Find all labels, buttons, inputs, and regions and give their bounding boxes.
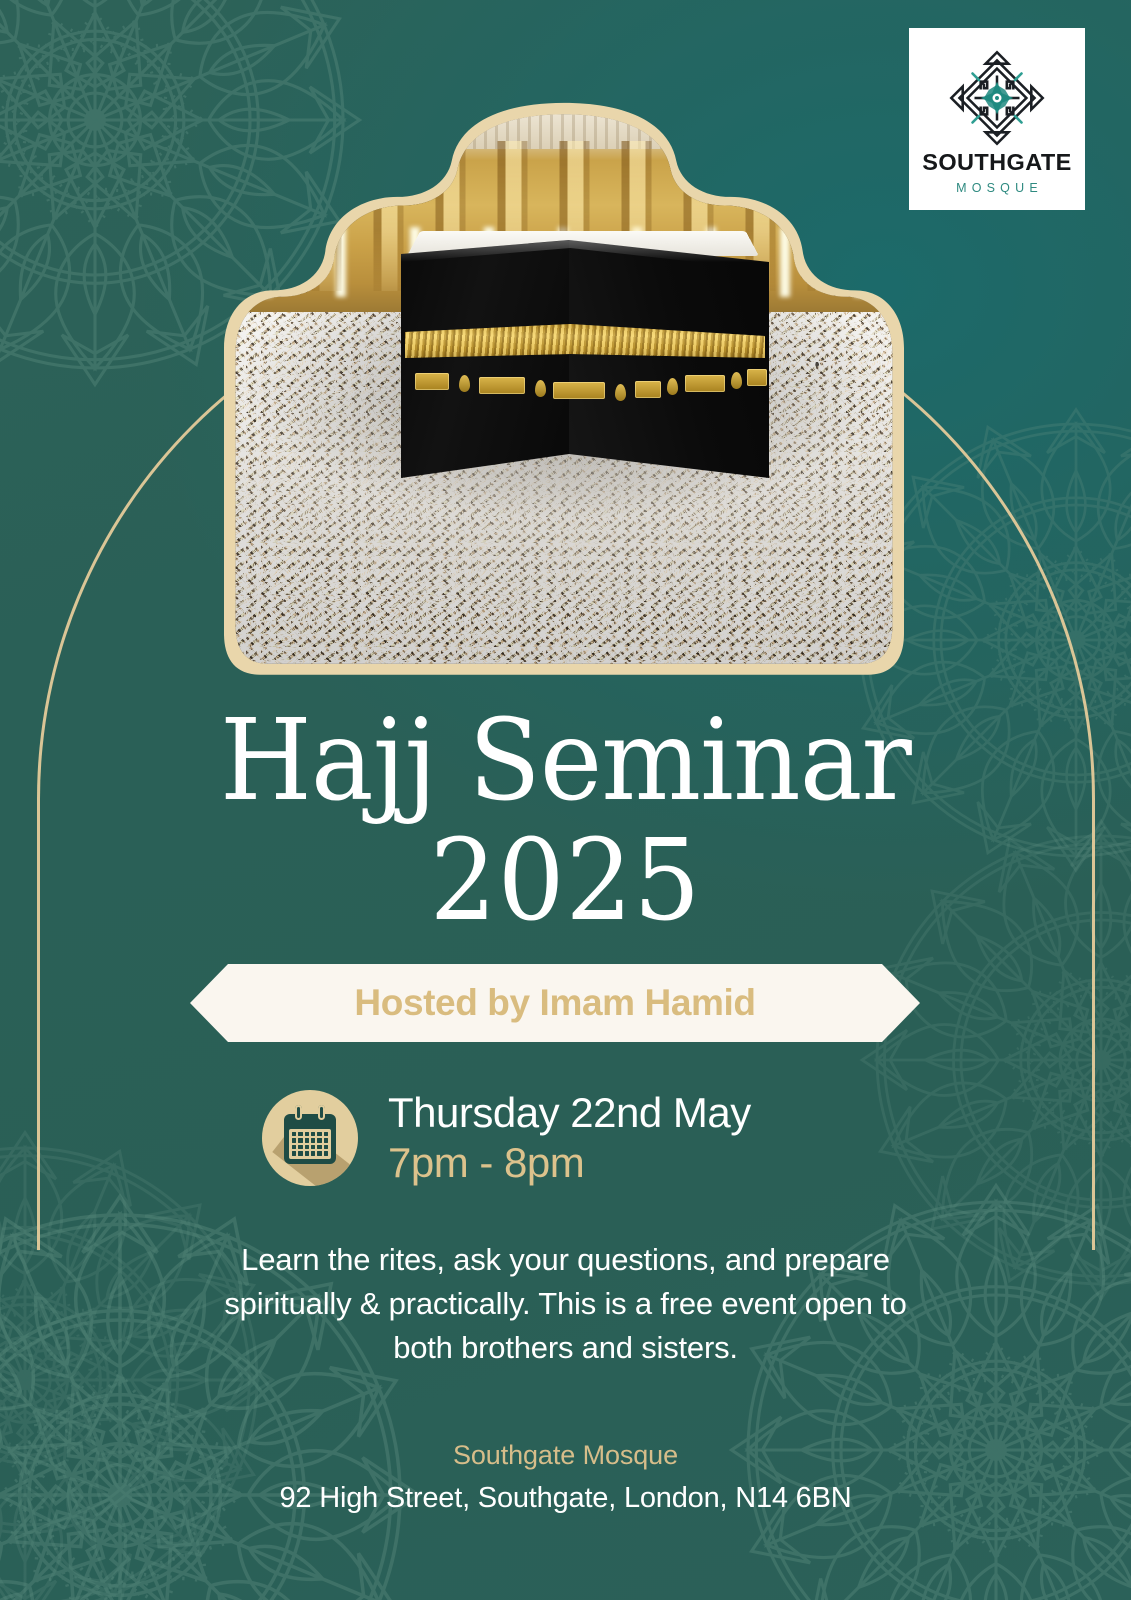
kaaba-face-left: [401, 240, 569, 478]
venue-name: Southgate Mosque: [0, 1440, 1131, 1471]
masjid-al-haram-photo: [231, 107, 897, 670]
logo-name: SOUTHGATE: [922, 149, 1071, 176]
islamic-geometric-star-icon: [948, 49, 1046, 147]
poster-title: Hajj Seminar 2025: [0, 705, 1131, 947]
host-banner-text: Hosted by Imam Hamid: [354, 982, 755, 1024]
datetime-text: Thursday 22nd May 7pm - 8pm: [388, 1088, 751, 1187]
kiswah-gold-plates: [401, 364, 769, 406]
event-description: Learn the rites, ask your questions, and…: [196, 1238, 936, 1370]
event-datetime: Thursday 22nd May 7pm - 8pm: [262, 1088, 751, 1187]
calendar-grid: [289, 1129, 331, 1159]
calendar-icon: [262, 1090, 358, 1186]
poster-canvas: SOUTHGATE MOSQUE Hajj Seminar 2025 Hoste…: [0, 0, 1131, 1600]
hero-photo-clip: [231, 107, 897, 670]
venue-footer: Southgate Mosque 92 High Street, Southga…: [0, 1440, 1131, 1515]
calendar-glyph: [284, 1114, 336, 1164]
venue-address: 92 High Street, Southgate, London, N14 6…: [0, 1482, 1131, 1515]
event-date: Thursday 22nd May: [388, 1088, 751, 1138]
logo-subtitle: MOSQUE: [951, 181, 1043, 195]
teal-star-center: [981, 82, 1014, 115]
southgate-mosque-logo[interactable]: SOUTHGATE MOSQUE: [909, 28, 1085, 210]
kaaba-hero-image: [224, 100, 904, 677]
calendar-ring-right: [318, 1105, 325, 1120]
title-line-1: Hajj Seminar: [34, 705, 1097, 817]
title-line-2: 2025: [34, 817, 1097, 947]
kaaba-cube: [401, 212, 769, 492]
event-time: 7pm - 8pm: [388, 1138, 751, 1188]
calendar-ring-left: [295, 1105, 302, 1120]
host-banner: Hosted by Imam Hamid: [190, 964, 920, 1042]
kaaba-face-right: [569, 240, 769, 478]
